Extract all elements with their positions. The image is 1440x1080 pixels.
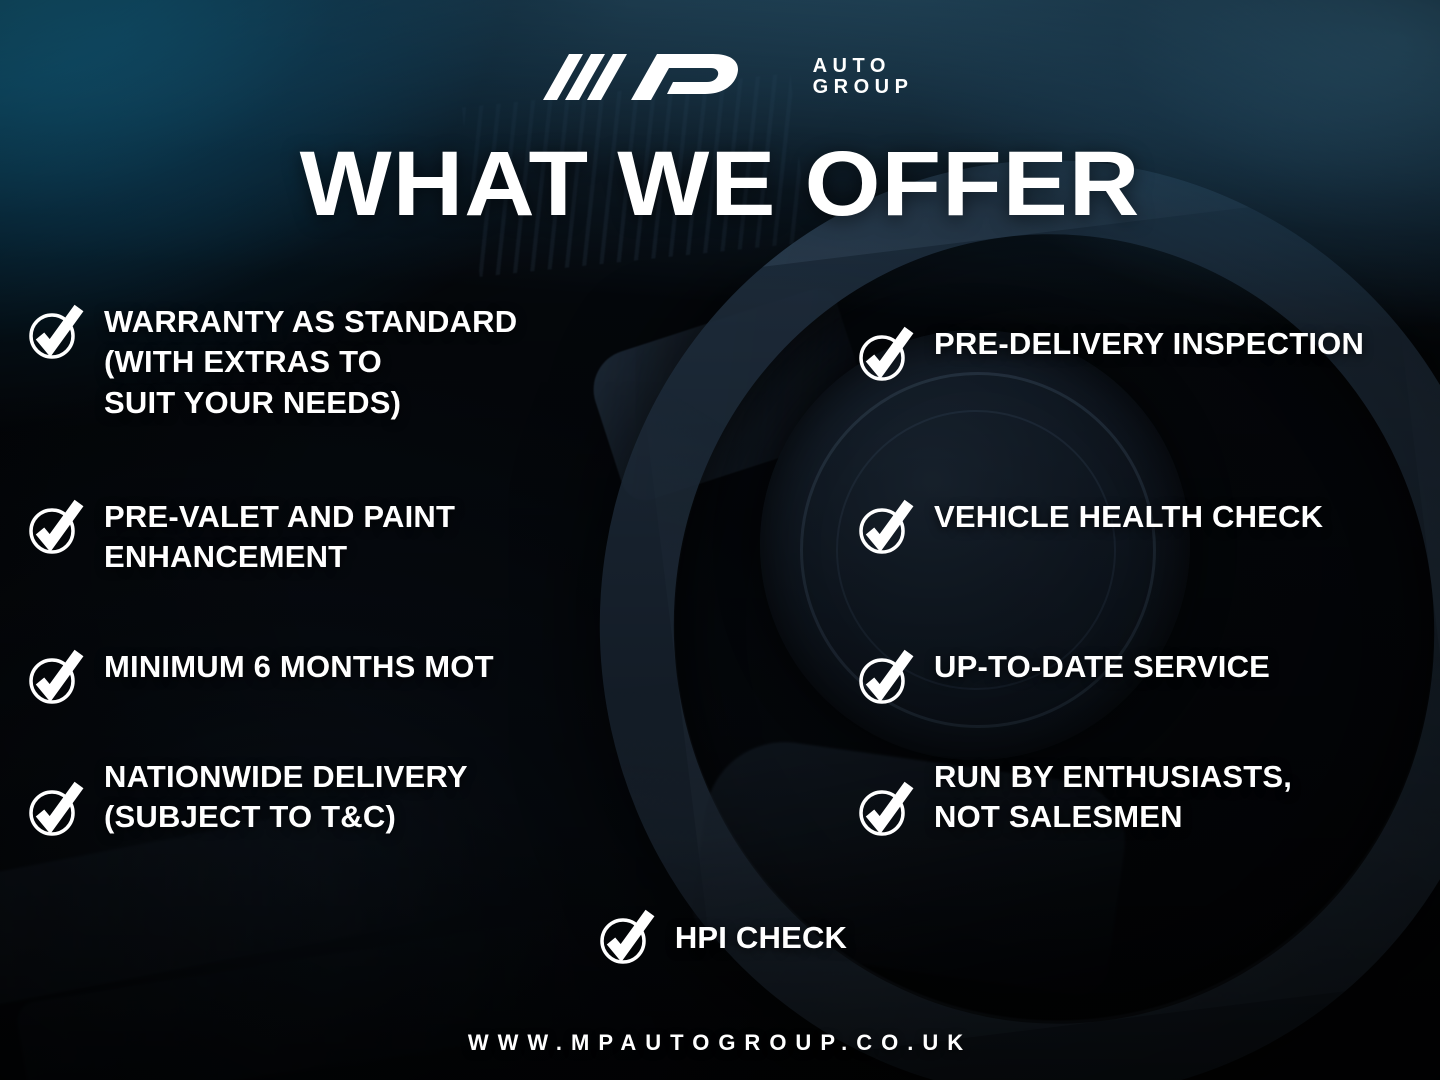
check-circle-icon — [22, 495, 86, 559]
check-circle-icon — [22, 300, 86, 364]
brand-logo-words: AUTO GROUP — [813, 56, 914, 98]
check-circle-icon — [22, 777, 86, 841]
check-circle-icon — [593, 905, 657, 969]
offer-item: NATIONWIDE DELIVERY (SUBJECT TO T&C) — [22, 755, 622, 841]
offer-item-label: MINIMUM 6 MONTHS MOT — [104, 645, 494, 687]
mp-monogram-icon — [527, 48, 797, 106]
offer-item-label: WARRANTY AS STANDARD (WITH EXTRAS TO SUI… — [104, 300, 517, 423]
offer-item: UP-TO-DATE SERVICE — [852, 645, 1440, 709]
offer-item-label: NATIONWIDE DELIVERY (SUBJECT TO T&C) — [104, 755, 468, 838]
offer-item-label: VEHICLE HEALTH CHECK — [934, 495, 1323, 537]
website-url: WWW.MPAUTOGROUP.CO.UK — [0, 1030, 1440, 1056]
offer-item-label: RUN BY ENTHUSIASTS, NOT SALESMEN — [934, 755, 1292, 838]
offer-item: PRE-DELIVERY INSPECTION — [852, 322, 1440, 386]
check-circle-icon — [852, 322, 916, 386]
check-circle-icon — [852, 777, 916, 841]
page-title: WHAT WE OFFER — [0, 138, 1440, 230]
offer-item: PRE-VALET AND PAINT ENHANCEMENT — [22, 495, 622, 578]
offer-item: WARRANTY AS STANDARD (WITH EXTRAS TO SUI… — [22, 300, 622, 423]
check-circle-icon — [22, 645, 86, 709]
offer-poster: AUTO GROUP WHAT WE OFFER WARRANTY AS STA… — [0, 0, 1440, 1080]
brand-logo-line1: AUTO — [813, 56, 914, 77]
offer-item-label: PRE-DELIVERY INSPECTION — [934, 322, 1364, 364]
brand-logo: AUTO GROUP — [0, 48, 1440, 106]
offer-item-label: PRE-VALET AND PAINT ENHANCEMENT — [104, 495, 455, 578]
offer-item-center: HPI CHECK — [0, 905, 1440, 969]
offer-item: MINIMUM 6 MONTHS MOT — [22, 645, 622, 709]
offer-item: RUN BY ENTHUSIASTS, NOT SALESMEN — [852, 755, 1440, 841]
offer-item-label: HPI CHECK — [675, 916, 847, 958]
offer-item-label: UP-TO-DATE SERVICE — [934, 645, 1270, 687]
check-circle-icon — [852, 645, 916, 709]
offer-item: VEHICLE HEALTH CHECK — [852, 495, 1440, 559]
check-circle-icon — [852, 495, 916, 559]
brand-logo-line2: GROUP — [813, 77, 914, 98]
